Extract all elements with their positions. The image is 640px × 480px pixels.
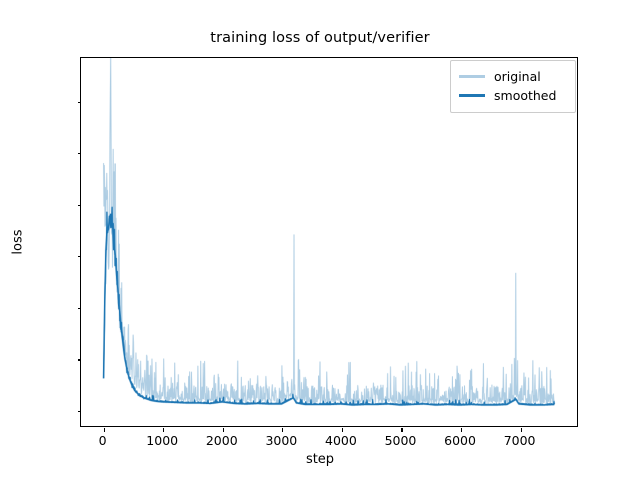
x-tick-mark bbox=[282, 428, 283, 432]
x-tick-label: 7000 bbox=[504, 433, 536, 448]
legend-label: original bbox=[494, 69, 541, 84]
x-tick-mark bbox=[521, 428, 522, 432]
x-tick-mark bbox=[163, 428, 164, 432]
x-tick-mark bbox=[342, 428, 343, 432]
legend-color-swatch bbox=[459, 94, 485, 97]
y-tick-mark bbox=[78, 153, 82, 154]
x-tick-label: 5000 bbox=[385, 433, 417, 448]
x-tick-label: 6000 bbox=[444, 433, 476, 448]
x-tick-label: 2000 bbox=[206, 433, 238, 448]
y-axis-label: loss bbox=[11, 229, 26, 254]
x-tick-mark bbox=[461, 428, 462, 432]
x-axis-label: step bbox=[0, 452, 640, 467]
y-tick-mark bbox=[78, 411, 82, 412]
legend-item-smoothed[interactable]: smoothed bbox=[459, 86, 567, 105]
chart-title: training loss of output/verifier bbox=[0, 30, 640, 46]
y-tick-mark bbox=[78, 102, 82, 103]
legend-label: smoothed bbox=[494, 88, 556, 103]
matplotlib-figure: training loss of output/verifier loss st… bbox=[0, 0, 640, 480]
legend-item-original[interactable]: original bbox=[459, 67, 567, 86]
x-tick-label: 3000 bbox=[265, 433, 297, 448]
x-tick-label: 4000 bbox=[325, 433, 357, 448]
y-tick-mark bbox=[78, 256, 82, 257]
x-tick-mark bbox=[223, 428, 224, 432]
chart-legend[interactable]: originalsmoothed bbox=[450, 60, 576, 113]
y-tick-mark bbox=[78, 308, 82, 309]
x-tick-label: 0 bbox=[99, 433, 107, 448]
legend-color-swatch bbox=[459, 75, 485, 78]
x-tick-mark bbox=[104, 428, 105, 432]
x-tick-label: 1000 bbox=[146, 433, 178, 448]
plot-canvas bbox=[81, 58, 577, 426]
y-tick-mark bbox=[78, 359, 82, 360]
x-tick-mark bbox=[401, 428, 402, 432]
y-tick-mark bbox=[78, 205, 82, 206]
